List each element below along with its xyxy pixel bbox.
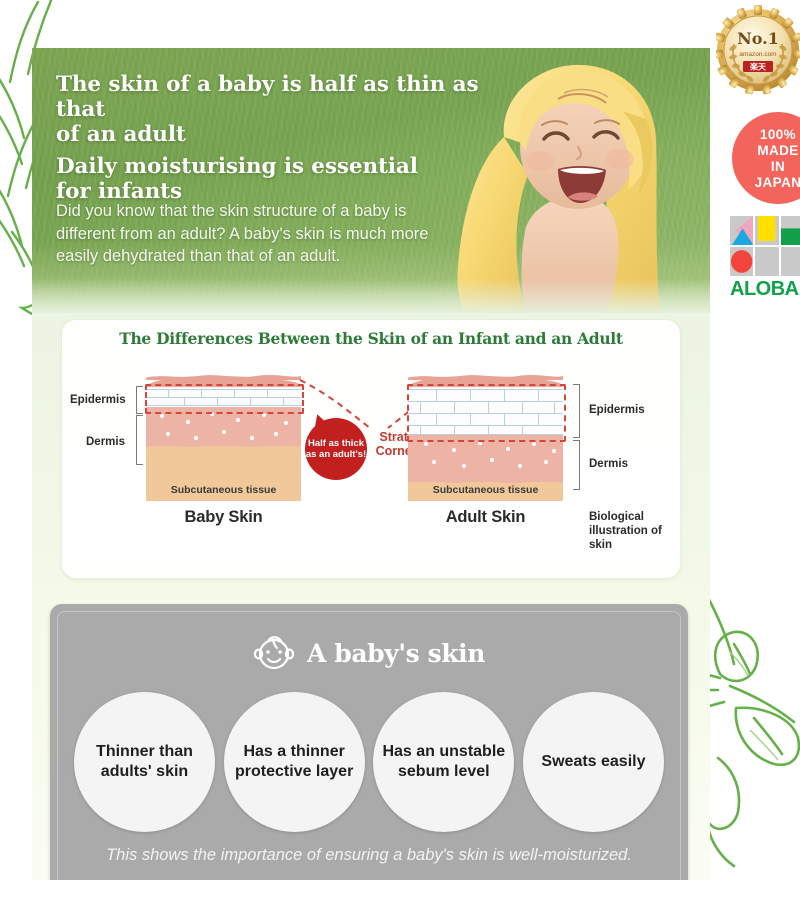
logo-cell-2 — [755, 216, 778, 245]
hero-headline: The skin of a baby is half as thin as th… — [56, 72, 486, 204]
hero-blurb: Did you know that the skin structure of … — [56, 200, 466, 268]
baby-face-icon — [253, 632, 295, 674]
logo-cell-6 — [781, 247, 800, 276]
baby-epidermis-bracket — [136, 386, 143, 414]
made-in-japan-badge: 100% MADE IN JAPAN — [732, 112, 800, 204]
made-in-japan-line1: MADE — [757, 143, 798, 158]
adult-skin-caption: Adult Skin — [408, 508, 563, 527]
bubble-item: Thinner than adults' skin — [74, 692, 215, 832]
bubble-item: Has a thinner protective layer — [224, 692, 365, 832]
medal-rank-text: No.1 — [737, 29, 779, 48]
attribute-bubble-list: Thinner than adults' skin Has a thinner … — [74, 692, 664, 832]
hero-bottom-fade — [32, 278, 710, 313]
panel-header: A baby's skin — [50, 632, 688, 674]
panel-title: A baby's skin — [307, 639, 485, 668]
logo-cell-1 — [730, 216, 753, 245]
logo-cell-5 — [755, 247, 778, 276]
medal-store-text: 楽天 — [749, 62, 767, 72]
adult-subcutaneous-label: Subcutaneous tissue — [408, 484, 563, 496]
logo-cell-3 — [781, 216, 800, 245]
adult-stratum-corneum-box — [407, 384, 566, 442]
bubble-item: Has an unstable sebum level — [373, 692, 514, 832]
medal-marketplace-text: amazon.com — [739, 51, 776, 58]
baby-epidermis-label: Epidermis — [70, 394, 126, 406]
adult-epidermis-bracket — [573, 384, 580, 438]
baby-dermis-label: Dermis — [86, 436, 125, 448]
headline-line-1: The skin of a baby is half as thin as th… — [56, 72, 486, 122]
headline-line-3: Daily moisturising is essential — [56, 154, 486, 179]
biological-illustration-note: Biological illustration of skin — [589, 510, 679, 552]
baby-skin-caption: Baby Skin — [146, 508, 301, 527]
main-content-card: The skin of a baby is half as thin as th… — [32, 48, 710, 880]
half-as-thick-text: Half as thick as an adult's! — [305, 438, 367, 460]
logo-cell-4 — [730, 247, 753, 276]
baby-skin-illustration: Subcutaneous tissue Baby Skin — [146, 356, 301, 536]
alobaby-logo: ALOBABY — [730, 216, 800, 301]
adult-epidermis-label: Epidermis — [589, 404, 645, 416]
baby-dermis-bracket — [136, 415, 143, 465]
adult-skin-illustration: Subcutaneous tissue Adult Skin — [408, 356, 563, 536]
hero-banner: The skin of a baby is half as thin as th… — [32, 48, 710, 313]
headline-line-2: of an adult — [56, 122, 486, 147]
alobaby-wordmark: ALOBABY — [730, 278, 800, 301]
adult-dermis-bracket — [573, 440, 580, 490]
skin-comparison-card: The Differences Between the Skin of an I… — [62, 320, 680, 578]
alobaby-logo-grid — [730, 216, 800, 276]
made-in-japan-percent: 100% — [760, 127, 796, 142]
gold-medal-icon: No.1 amazon.com 楽天 — [716, 4, 800, 96]
diagram-title: The Differences Between the Skin of an I… — [62, 329, 680, 348]
baby-stratum-corneum-box — [145, 384, 304, 414]
made-in-japan-line2: IN — [771, 159, 785, 174]
infographic-canvas: The skin of a baby is half as thin as th… — [0, 0, 800, 900]
adult-dermis-label: Dermis — [589, 458, 628, 470]
baby-subcutaneous-label: Subcutaneous tissue — [146, 484, 301, 496]
bubble-item: Sweats easily — [523, 692, 664, 832]
made-in-japan-line3: JAPAN — [755, 175, 800, 190]
baby-skin-summary-panel: A baby's skin Thinner than adults' skin … — [50, 604, 688, 880]
panel-footnote: This shows the importance of ensuring a … — [90, 844, 648, 866]
